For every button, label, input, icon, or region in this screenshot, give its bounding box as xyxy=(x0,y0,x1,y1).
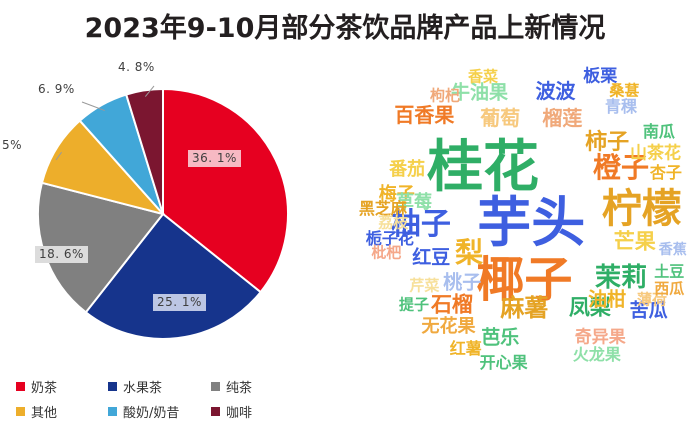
word-cloud-term[interactable]: 柿子 xyxy=(585,132,629,154)
legend-label-coffee: 咖啡 xyxy=(226,402,252,421)
word-cloud-term[interactable]: 芭乐 xyxy=(481,329,519,348)
word-cloud-term[interactable]: 麻薯 xyxy=(500,296,548,320)
legend-label-milk-tea: 奶茶 xyxy=(31,377,57,396)
word-cloud-term[interactable]: 芋头 xyxy=(477,196,585,250)
word-cloud-term[interactable]: 山茶花 xyxy=(630,145,681,162)
word-cloud-term[interactable]: 芹菜 xyxy=(409,278,439,293)
legend-swatch-pure-tea xyxy=(211,382,220,391)
word-cloud-term[interactable]: 红薯 xyxy=(450,341,482,357)
pie-svg xyxy=(8,64,318,364)
slice-label-other: 5% xyxy=(2,138,22,152)
word-cloud-term[interactable]: 榴莲 xyxy=(542,108,582,128)
legend-item-other[interactable]: 其他 xyxy=(16,402,108,421)
slice-label-fruit-tea: 25. 1% xyxy=(153,294,206,311)
slice-label-milk-tea: 36. 1% xyxy=(188,150,241,167)
word-cloud-term[interactable]: 百香果 xyxy=(394,105,454,125)
word-cloud-term[interactable]: 枸杞 xyxy=(430,89,460,104)
legend-swatch-coffee xyxy=(211,407,220,416)
word-cloud-term[interactable]: 柠檬 xyxy=(602,189,682,229)
legend-label-fruit-tea: 水果茶 xyxy=(123,377,162,396)
word-cloud-term[interactable]: 无花果 xyxy=(422,318,476,336)
pie-chart: 36. 1% 25. 1% 18. 6% 5% 6. 9% 4. 8% xyxy=(8,64,318,364)
page-title: 2023年9-10月部分茶饮品牌产品上新情况 xyxy=(0,6,690,45)
word-cloud-term[interactable]: 杏子 xyxy=(650,165,682,181)
legend-swatch-fruit-tea xyxy=(108,382,117,391)
word-cloud-term[interactable]: 梨 xyxy=(455,239,483,267)
word-cloud-term[interactable]: 南瓜 xyxy=(643,124,675,140)
word-cloud-term[interactable]: 波波 xyxy=(535,81,575,101)
word-cloud-term[interactable]: 荔枝 xyxy=(378,215,408,230)
word-cloud-term[interactable]: 香蕉 xyxy=(659,243,687,257)
word-cloud-term[interactable]: 开心果 xyxy=(480,355,528,371)
legend-swatch-other xyxy=(16,407,25,416)
legend-label-other: 其他 xyxy=(31,402,57,421)
pie-chart-panel: 36. 1% 25. 1% 18. 6% 5% 6. 9% 4. 8% xyxy=(0,48,345,378)
word-cloud-term[interactable]: 提子 xyxy=(399,298,429,313)
legend: 奶茶 水果茶 纯茶 其他 酸奶/奶昔 咖啡 xyxy=(16,374,336,424)
slice-label-yogurt: 6. 9% xyxy=(38,82,75,96)
slice-label-pure-tea: 18. 6% xyxy=(35,246,88,263)
word-cloud-term[interactable]: 桃子 xyxy=(443,274,481,293)
word-cloud-term[interactable]: 火龙果 xyxy=(573,347,621,363)
slice-label-coffee: 4. 8% xyxy=(118,60,155,74)
word-cloud-term[interactable]: 油柑 xyxy=(588,290,626,309)
word-cloud-term[interactable]: 葡萄 xyxy=(480,108,520,128)
legend-item-pure-tea[interactable]: 纯茶 xyxy=(211,377,252,396)
legend-swatch-milk-tea xyxy=(16,382,25,391)
legend-item-yogurt[interactable]: 酸奶/奶昔 xyxy=(108,402,211,421)
legend-label-yogurt: 酸奶/奶昔 xyxy=(123,402,179,421)
word-cloud-term[interactable]: 香菜 xyxy=(468,69,498,84)
legend-item-fruit-tea[interactable]: 水果茶 xyxy=(108,377,211,396)
word-cloud-term[interactable]: 土豆 xyxy=(654,265,684,280)
word-cloud-term[interactable]: 番茄 xyxy=(389,161,425,179)
word-cloud-term[interactable]: 西瓜 xyxy=(654,281,684,296)
word-cloud-term[interactable]: 枇杷 xyxy=(371,245,401,260)
legend-swatch-yogurt xyxy=(108,407,117,416)
legend-row-1: 奶茶 水果茶 纯茶 xyxy=(16,374,336,399)
word-cloud-term[interactable]: 茉莉 xyxy=(595,265,647,291)
chart-page: 2023年9-10月部分茶饮品牌产品上新情况 36. 1% 25. 1% 18.… xyxy=(0,0,690,432)
legend-row-2: 其他 酸奶/奶昔 咖啡 xyxy=(16,399,336,424)
legend-item-milk-tea[interactable]: 奶茶 xyxy=(16,377,108,396)
legend-item-coffee[interactable]: 咖啡 xyxy=(211,402,252,421)
word-cloud-term[interactable]: 青稞 xyxy=(605,99,637,115)
word-cloud-term[interactable]: 桂花 xyxy=(427,140,539,196)
word-cloud-term[interactable]: 红豆 xyxy=(412,249,450,268)
word-cloud-term[interactable]: 石榴 xyxy=(431,295,473,316)
word-cloud-term[interactable]: 桑葚 xyxy=(609,83,639,98)
legend-label-pure-tea: 纯茶 xyxy=(226,377,252,396)
word-cloud-term[interactable]: 芒果 xyxy=(614,231,656,252)
word-cloud: 桂花芋头椰子柠檬柚子橙子梨茉莉麻薯柿子芒果凤梨石榴百香果葡萄榴莲波波牛油果红豆桃… xyxy=(345,52,690,382)
